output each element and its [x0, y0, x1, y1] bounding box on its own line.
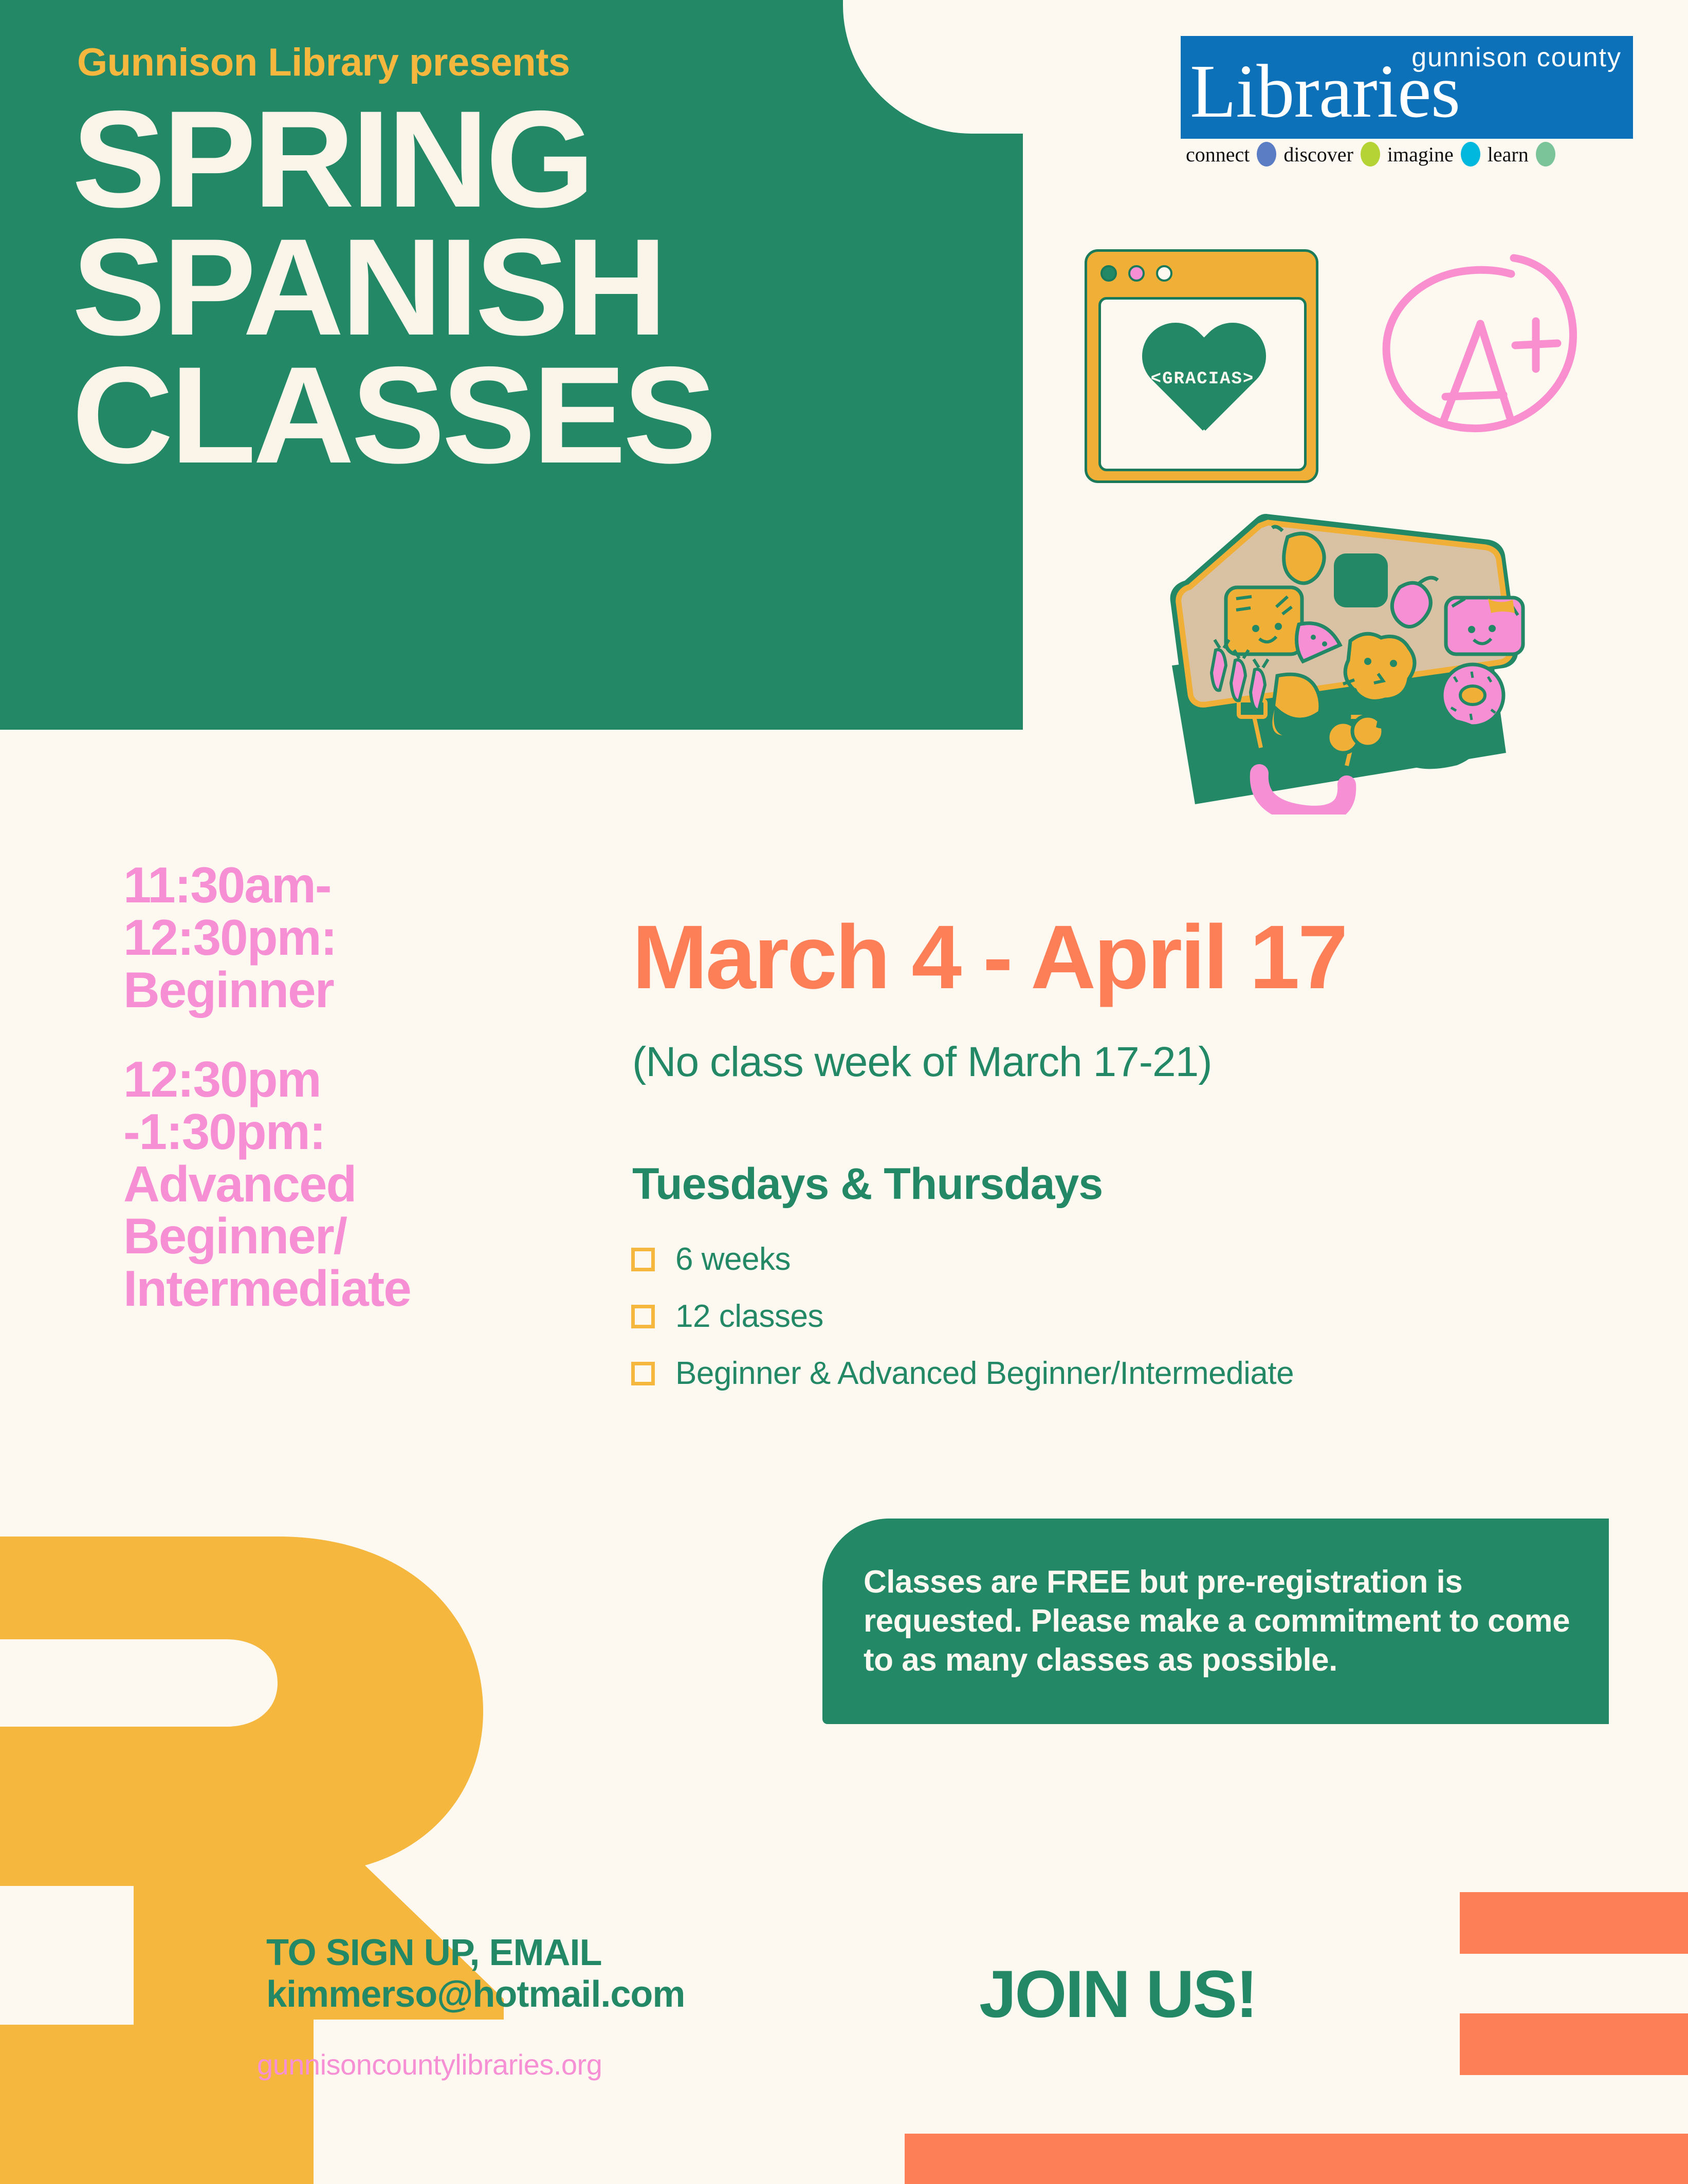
browser-window-illustration: <GRACIAS>	[1085, 249, 1318, 483]
logo-tagline: connect discover imagine learn	[1181, 139, 1633, 170]
advanced-time-line-4: Beginner/	[123, 1210, 612, 1263]
gracias-code-text: <GRACIAS>	[1139, 369, 1267, 389]
logo-libraries-text: Libraries	[1190, 53, 1460, 129]
browser-traffic-lights	[1100, 265, 1172, 282]
library-logo: gunnison county Libraries connect discov…	[1181, 36, 1633, 170]
browser-dot-white	[1156, 265, 1172, 282]
title-line-1: SPRING	[72, 95, 1016, 223]
checkbox-icon[interactable]	[631, 1305, 655, 1328]
decorative-bar-top	[1460, 1892, 1688, 1954]
detail-label-levels: Beginner & Advanced Beginner/Intermediat…	[675, 1355, 1294, 1392]
tagline-word-connect: connect	[1186, 142, 1250, 166]
website-url[interactable]: gunnisoncountylibraries.org	[257, 2048, 602, 2081]
browser-dot-pink	[1128, 265, 1145, 282]
poster-canvas: Gunnison Library presents SPRING SPANISH…	[0, 0, 1688, 2184]
decorative-bar-middle	[1460, 2013, 1688, 2075]
browser-dot-green	[1100, 265, 1117, 282]
tagline-dot-imagine	[1461, 142, 1480, 166]
class-days: Tuesdays & Thursdays	[632, 1159, 1103, 1210]
lunchbox-illustration	[1128, 496, 1529, 815]
tagline-word-discover: discover	[1283, 142, 1353, 166]
list-item: 6 weeks	[631, 1241, 1608, 1278]
decorative-bar-bottom	[905, 2134, 1688, 2184]
detail-label-weeks: 6 weeks	[675, 1241, 791, 1278]
signup-label: TO SIGN UP, EMAIL	[266, 1932, 685, 1974]
beginner-time-line-3: Beginner	[123, 964, 612, 1016]
beginner-time-line-2: 12:30pm:	[123, 912, 612, 964]
registration-callout-text: Classes are FREE but pre-registration is…	[822, 1563, 1609, 1680]
title-line-3: CLASSES	[72, 351, 1016, 479]
date-range: March 4 - April 17	[632, 912, 1346, 1003]
beginner-time-line-1: 11:30am-	[123, 859, 612, 912]
logo-blue-box: gunnison county Libraries	[1181, 36, 1633, 139]
class-time-advanced: 12:30pm -1:30pm: Advanced Beginner/ Inte…	[123, 1053, 612, 1316]
signup-block: TO SIGN UP, EMAIL kimmerso@hotmail.com	[266, 1932, 685, 2015]
advanced-time-line-2: -1:30pm:	[123, 1106, 612, 1158]
decorative-letter-r	[0, 1506, 565, 2184]
join-us-text: JOIN US!	[979, 1955, 1256, 2032]
detail-label-classes: 12 classes	[675, 1298, 823, 1335]
class-details-list: 6 weeks 12 classes Beginner & Advanced B…	[631, 1241, 1608, 1412]
advanced-time-line-1: 12:30pm	[123, 1053, 612, 1106]
signup-email[interactable]: kimmerso@hotmail.com	[266, 1974, 685, 2015]
page-title: SPRING SPANISH CLASSES	[72, 95, 1016, 479]
class-times-list: 11:30am- 12:30pm: Beginner 12:30pm -1:30…	[123, 859, 612, 1315]
tagline-dot-discover	[1361, 142, 1380, 166]
list-item: 12 classes	[631, 1298, 1608, 1335]
tagline-dot-connect	[1257, 142, 1276, 166]
class-time-beginner: 11:30am- 12:30pm: Beginner	[123, 859, 612, 1016]
registration-callout: Classes are FREE but pre-registration is…	[822, 1519, 1609, 1724]
advanced-time-line-3: Advanced	[123, 1158, 612, 1211]
list-item: Beginner & Advanced Beginner/Intermediat…	[631, 1355, 1608, 1392]
a-plus-grade-icon	[1357, 226, 1588, 457]
checkbox-icon[interactable]	[631, 1248, 655, 1271]
no-class-note: (No class week of March 17-21)	[632, 1038, 1212, 1086]
presents-label: Gunnison Library presents	[77, 40, 570, 85]
heart-icon: <GRACIAS>	[1139, 325, 1267, 443]
tagline-word-imagine: imagine	[1387, 142, 1454, 166]
checkbox-icon[interactable]	[631, 1362, 655, 1385]
tagline-word-learn: learn	[1488, 142, 1529, 166]
title-line-2: SPANISH	[72, 223, 1016, 351]
tagline-dot-learn	[1536, 142, 1555, 166]
browser-viewport: <GRACIAS>	[1098, 297, 1307, 471]
advanced-time-line-5: Intermediate	[123, 1263, 612, 1315]
